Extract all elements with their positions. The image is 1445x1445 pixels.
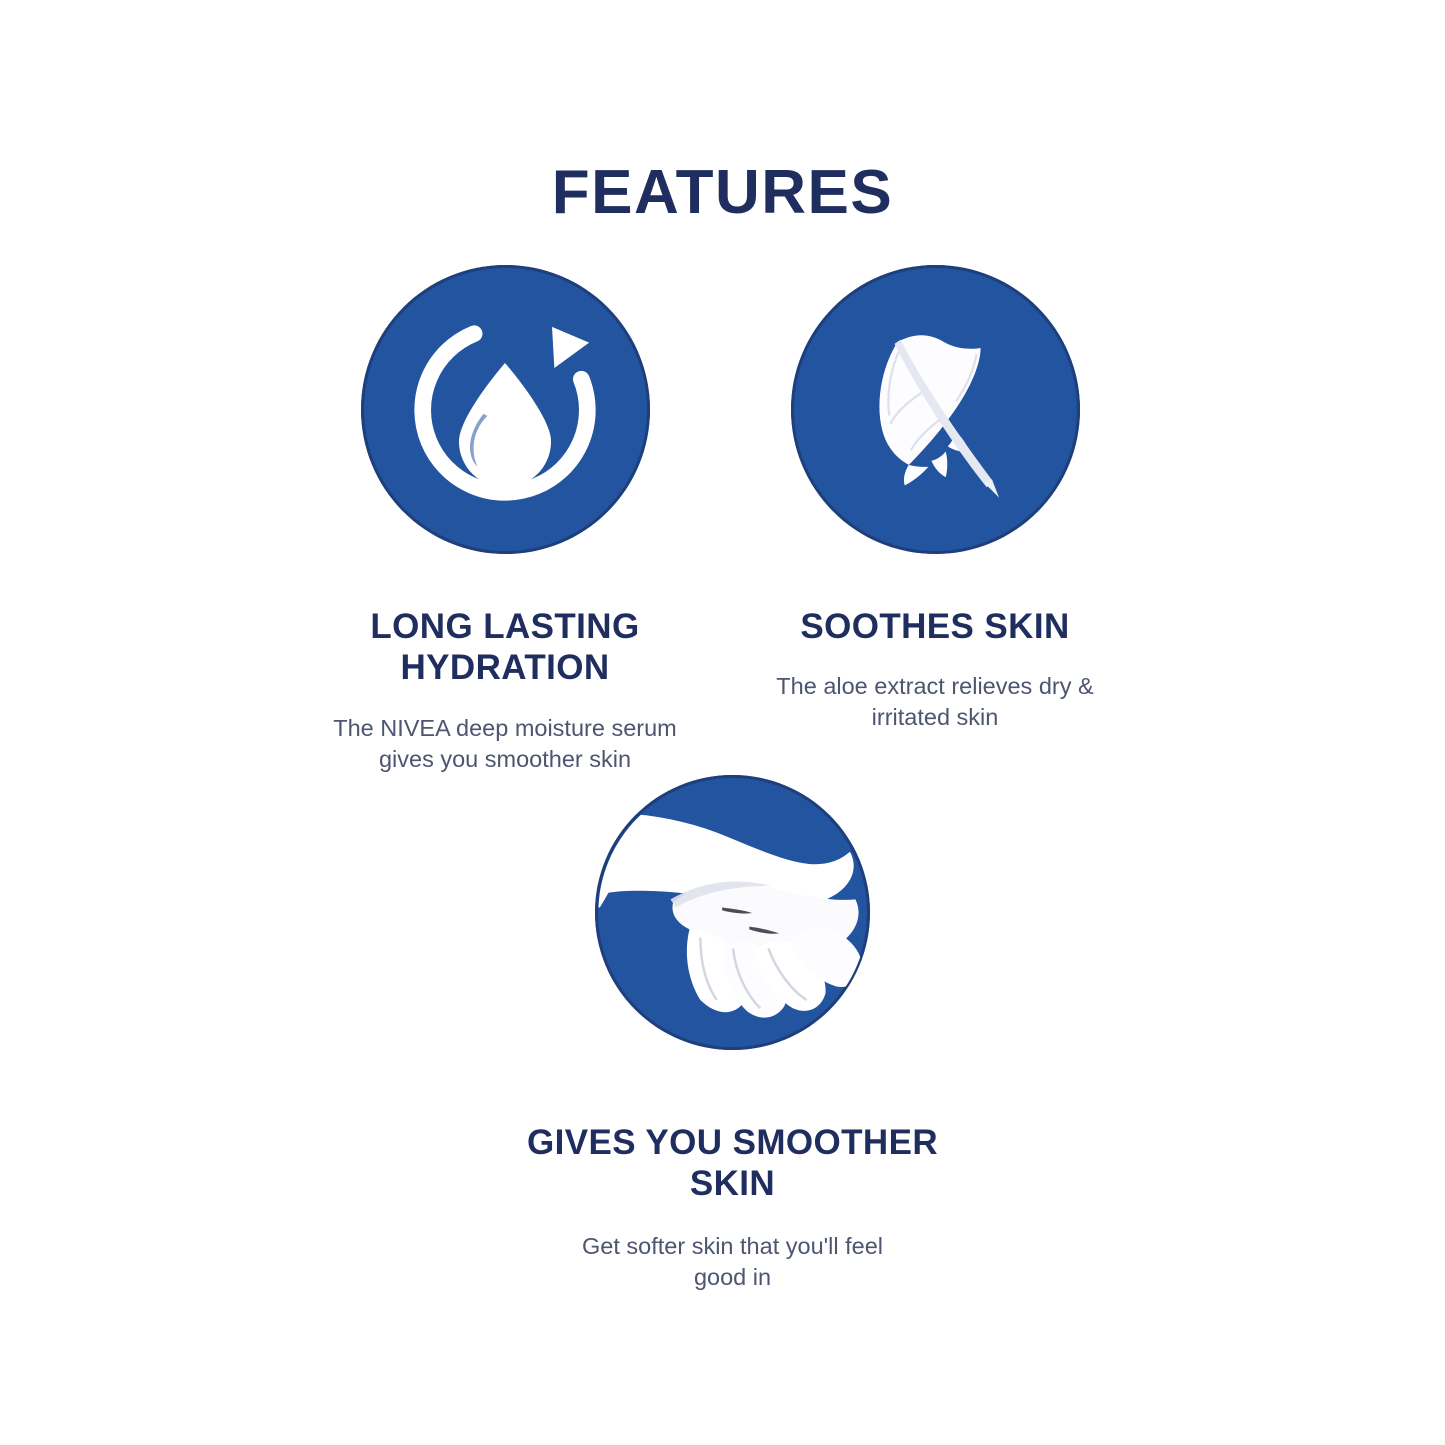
feature-description: The NIVEA deep moisture serum gives you … bbox=[305, 713, 705, 775]
feature-icon-badge bbox=[361, 265, 650, 554]
feature-heading: LONG LASTING HYDRATION bbox=[305, 606, 705, 689]
feature-description: Get softer skin that you'll feel good in bbox=[568, 1231, 898, 1293]
feature-heading: SOOTHES SKIN bbox=[800, 606, 1069, 647]
feature-card-long-lasting-hydration: LONG LASTING HYDRATION The NIVEA deep mo… bbox=[275, 265, 735, 775]
feature-icon-badge bbox=[595, 775, 870, 1050]
feature-heading: GIVES YOU SMOOTHER SKIN bbox=[523, 1122, 943, 1205]
water-drop-refresh-cycle-icon bbox=[407, 312, 603, 508]
hands-applying-lotion-icon bbox=[597, 777, 869, 1049]
features-infographic: FEATURES LONG LASTING HYDRATION The NIVE… bbox=[0, 0, 1445, 1445]
feature-description: The aloe extract relieves dry & irritate… bbox=[775, 671, 1095, 733]
page-title: FEATURES bbox=[0, 160, 1445, 225]
feature-card-gives-you-smoother-skin: GIVES YOU SMOOTHER SKIN Get softer skin … bbox=[505, 775, 960, 1293]
feature-icon-badge bbox=[791, 265, 1080, 554]
feature-card-soothes-skin: SOOTHES SKIN The aloe extract relieves d… bbox=[710, 265, 1160, 733]
feather-icon bbox=[833, 307, 1038, 512]
